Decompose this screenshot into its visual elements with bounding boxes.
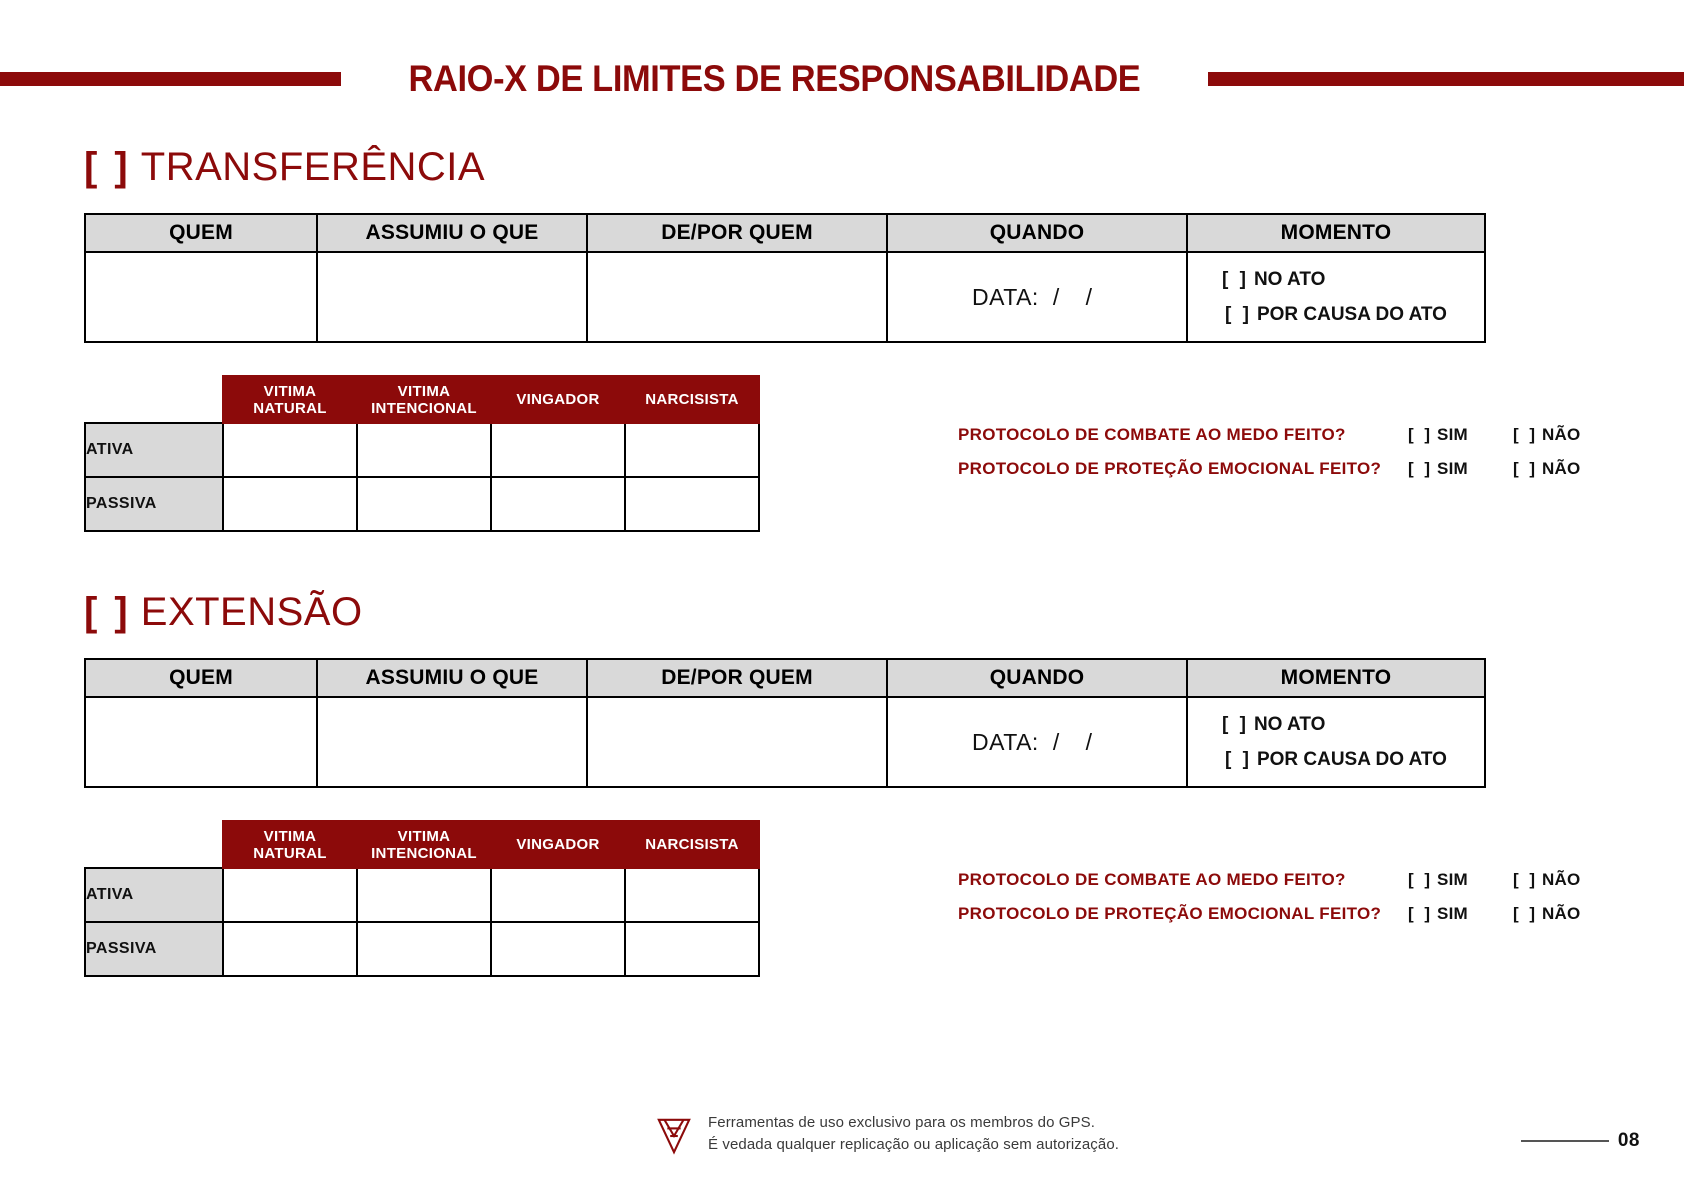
table-header-row: QUEM ASSUMIU O QUE DE/POR QUEM QUANDO MO… [85,659,1485,697]
protocol-label-sim: SIM [1437,904,1468,923]
protocol-label-nao: NÃO [1542,870,1580,889]
momento-option-no-ato[interactable]: [ ]NO ATO [1222,262,1484,297]
column-header-quem: QUEM [85,214,317,252]
column-header-deporquem: DE/POR QUEM [587,214,887,252]
page-number: 08 [1618,1130,1640,1152]
field-quem[interactable] [85,697,317,787]
field-momento[interactable]: [ ]NO ATO [ ]POR CAUSA DO ATO [1187,252,1485,342]
matrix-column-vitima-natural: VITIMA NATURAL [223,821,357,868]
matrix-cell[interactable] [223,868,357,922]
matrix-cell[interactable] [625,868,759,922]
column-header-quando: QUANDO [887,214,1187,252]
data-slashes: / / [1053,729,1102,755]
matrix-col-line2: INTENCIONAL [358,845,490,862]
matrix-col-line1: NARCISISTA [626,836,758,853]
matrix-row-ativa: ATIVA [85,423,759,477]
section-transferencia: [ ]TRANSFERÊNCIA QUEM ASSUMIU O QUE DE/P… [0,140,1684,194]
momento-label-no-ato: NO ATO [1254,269,1325,290]
matrix-col-line1: VITIMA [358,828,490,845]
protocol-option-nao[interactable]: [ ]NÃO [1513,904,1580,924]
matrix-col-line1: VITIMA [224,383,356,400]
matrix-row-label-ativa: ATIVA [85,868,223,922]
section-title-extensao: EXTENSÃO [141,590,363,634]
data-label: DATA: [972,284,1039,310]
page-footer: Ferramentas de uso exclusivo para os mem… [0,1112,1684,1172]
protocol-row-emocional: PROTOCOLO DE PROTEÇÃO EMOCIONAL FEITO? [… [958,904,1638,938]
matrix-cell[interactable] [491,922,625,976]
column-header-momento: MOMENTO [1187,659,1485,697]
section-checkbox-extensao[interactable]: [ ] [84,590,131,634]
checkbox-por-causa-do-ato[interactable]: [ ] [1225,304,1252,325]
matrix-column-vitima-intencional: VITIMA INTENCIONAL [357,821,491,868]
matrix-header-row: VITIMA NATURAL VITIMA INTENCIONAL VINGAD… [85,821,759,868]
protocol-question-medo: PROTOCOLO DE COMBATE AO MEDO FEITO? [958,425,1408,445]
table-header-row: QUEM ASSUMIU O QUE DE/POR QUEM QUANDO MO… [85,214,1485,252]
protocol-label-nao: NÃO [1542,459,1580,478]
data-label: DATA: [972,729,1039,755]
protocol-option-sim[interactable]: [ ]SIM [1408,904,1513,924]
matrix-col-line2: INTENCIONAL [358,400,490,417]
page-title: RAIO-X DE LIMITES DE RESPONSABILIDADE [409,58,1141,100]
momento-option-por-causa[interactable]: [ ]POR CAUSA DO ATO [1222,742,1484,777]
section-heading-extensao[interactable]: [ ]EXTENSÃO [84,585,1684,639]
matrix-corner-cell [85,376,223,423]
section-checkbox-transferencia[interactable]: [ ] [84,145,131,189]
header-rule-left [0,72,341,86]
matrix-cell[interactable] [357,868,491,922]
matrix-cell[interactable] [491,423,625,477]
protocol-label-nao: NÃO [1542,904,1580,923]
field-quando[interactable]: DATA:/ / [887,697,1187,787]
matrix-cell[interactable] [357,922,491,976]
matrix-cell[interactable] [625,477,759,531]
protocol-row-emocional: PROTOCOLO DE PROTEÇÃO EMOCIONAL FEITO? [… [958,459,1638,493]
protocol-option-sim[interactable]: [ ]SIM [1408,425,1513,445]
responsibility-table-transferencia: QUEM ASSUMIU O QUE DE/POR QUEM QUANDO MO… [84,213,1486,343]
matrix-header-row: VITIMA NATURAL VITIMA INTENCIONAL VINGAD… [85,376,759,423]
field-momento[interactable]: [ ]NO ATO [ ]POR CAUSA DO ATO [1187,697,1485,787]
matrix-cell[interactable] [357,477,491,531]
footer-disclaimer: Ferramentas de uso exclusivo para os mem… [708,1112,1119,1156]
protocol-option-nao[interactable]: [ ]NÃO [1513,870,1580,890]
footer-line-2: É vedada qualquer replicação ou aplicaçã… [708,1134,1119,1156]
matrix-cell[interactable] [491,868,625,922]
matrix-cell[interactable] [223,477,357,531]
victim-matrix-transferencia: VITIMA NATURAL VITIMA INTENCIONAL VINGAD… [84,375,760,532]
protocol-question-emocional: PROTOCOLO DE PROTEÇÃO EMOCIONAL FEITO? [958,459,1408,479]
matrix-cell[interactable] [223,922,357,976]
matrix-col-line1: VITIMA [358,383,490,400]
protocol-questions-extensao: PROTOCOLO DE COMBATE AO MEDO FEITO? [ ]S… [958,870,1638,938]
momento-option-por-causa[interactable]: [ ]POR CAUSA DO ATO [1222,297,1484,332]
field-assumiu[interactable] [317,252,587,342]
matrix-row-label-passiva: PASSIVA [85,477,223,531]
victim-matrix-extensao: VITIMA NATURAL VITIMA INTENCIONAL VINGAD… [84,820,760,977]
field-assumiu[interactable] [317,697,587,787]
matrix-column-narcisista: NARCISISTA [625,376,759,423]
checkbox-sim[interactable]: [ ] [1408,904,1433,923]
field-quando[interactable]: DATA:/ / [887,252,1187,342]
data-slashes: / / [1053,284,1102,310]
matrix-column-vitima-natural: VITIMA NATURAL [223,376,357,423]
matrix-column-vingador: VINGADOR [491,376,625,423]
header-rule-right [1208,72,1684,86]
checkbox-sim[interactable]: [ ] [1408,459,1433,478]
protocol-questions-transferencia: PROTOCOLO DE COMBATE AO MEDO FEITO? [ ]S… [958,425,1638,493]
protocol-option-sim[interactable]: [ ]SIM [1408,870,1513,890]
field-deporquem[interactable] [587,252,887,342]
checkbox-nao[interactable]: [ ] [1513,425,1538,444]
matrix-col-line1: VITIMA [224,828,356,845]
field-quem[interactable] [85,252,317,342]
matrix-cell[interactable] [223,423,357,477]
matrix-column-vitima-intencional: VITIMA INTENCIONAL [357,376,491,423]
protocol-question-emocional: PROTOCOLO DE PROTEÇÃO EMOCIONAL FEITO? [958,904,1408,924]
matrix-column-narcisista: NARCISISTA [625,821,759,868]
column-header-deporquem: DE/POR QUEM [587,659,887,697]
matrix-col-line1: NARCISISTA [626,391,758,408]
footer-line-1: Ferramentas de uso exclusivo para os mem… [708,1112,1119,1134]
matrix-cell[interactable] [625,423,759,477]
matrix-row-ativa: ATIVA [85,868,759,922]
protocol-row-medo: PROTOCOLO DE COMBATE AO MEDO FEITO? [ ]S… [958,425,1638,459]
matrix-col-line1: VINGADOR [492,391,624,408]
checkbox-no-ato[interactable]: [ ] [1222,269,1249,290]
column-header-assumiu: ASSUMIU O QUE [317,214,587,252]
checkbox-no-ato[interactable]: [ ] [1222,714,1249,735]
momento-option-no-ato[interactable]: [ ]NO ATO [1222,707,1484,742]
matrix-corner-cell [85,821,223,868]
matrix-row-label-ativa: ATIVA [85,423,223,477]
matrix-cell[interactable] [625,922,759,976]
gps-logo-icon [655,1116,693,1156]
column-header-assumiu: ASSUMIU O QUE [317,659,587,697]
protocol-question-medo: PROTOCOLO DE COMBATE AO MEDO FEITO? [958,870,1408,890]
matrix-col-line2: NATURAL [224,845,356,862]
matrix-col-line1: VINGADOR [492,836,624,853]
page-header: RAIO-X DE LIMITES DE RESPONSABILIDADE [0,56,1684,102]
field-deporquem[interactable] [587,697,887,787]
matrix-col-line2: NATURAL [224,400,356,417]
checkbox-sim[interactable]: [ ] [1408,870,1433,889]
protocol-option-nao[interactable]: [ ]NÃO [1513,425,1580,445]
table-row: DATA:/ / [ ]NO ATO [ ]POR CAUSA DO ATO [85,252,1485,342]
table-row: DATA:/ / [ ]NO ATO [ ]POR CAUSA DO ATO [85,697,1485,787]
protocol-option-sim[interactable]: [ ]SIM [1408,459,1513,479]
page-number-rule [1521,1140,1609,1142]
protocol-label-sim: SIM [1437,459,1468,478]
checkbox-por-causa-do-ato[interactable]: [ ] [1225,749,1252,770]
protocol-row-medo: PROTOCOLO DE COMBATE AO MEDO FEITO? [ ]S… [958,870,1638,904]
section-extensao: [ ]EXTENSÃO QUEM ASSUMIU O QUE DE/POR QU… [0,585,1684,639]
momento-label-no-ato: NO ATO [1254,714,1325,735]
protocol-option-nao[interactable]: [ ]NÃO [1513,459,1580,479]
checkbox-nao[interactable]: [ ] [1513,459,1538,478]
column-header-momento: MOMENTO [1187,214,1485,252]
page-number-group: 08 [1521,1130,1640,1152]
column-header-quando: QUANDO [887,659,1187,697]
protocol-label-sim: SIM [1437,425,1468,444]
protocol-label-nao: NÃO [1542,425,1580,444]
checkbox-sim[interactable]: [ ] [1408,425,1433,444]
momento-label-por-causa: POR CAUSA DO ATO [1257,304,1447,325]
section-title-transferencia: TRANSFERÊNCIA [141,145,485,189]
column-header-quem: QUEM [85,659,317,697]
section-heading-transferencia[interactable]: [ ]TRANSFERÊNCIA [84,140,1684,194]
checkbox-nao[interactable]: [ ] [1513,870,1538,889]
matrix-row-passiva: PASSIVA [85,477,759,531]
responsibility-table-extensao: QUEM ASSUMIU O QUE DE/POR QUEM QUANDO MO… [84,658,1486,788]
checkbox-nao[interactable]: [ ] [1513,904,1538,923]
matrix-row-passiva: PASSIVA [85,922,759,976]
matrix-cell[interactable] [491,477,625,531]
protocol-label-sim: SIM [1437,870,1468,889]
momento-label-por-causa: POR CAUSA DO ATO [1257,749,1447,770]
matrix-column-vingador: VINGADOR [491,821,625,868]
matrix-cell[interactable] [357,423,491,477]
matrix-row-label-passiva: PASSIVA [85,922,223,976]
